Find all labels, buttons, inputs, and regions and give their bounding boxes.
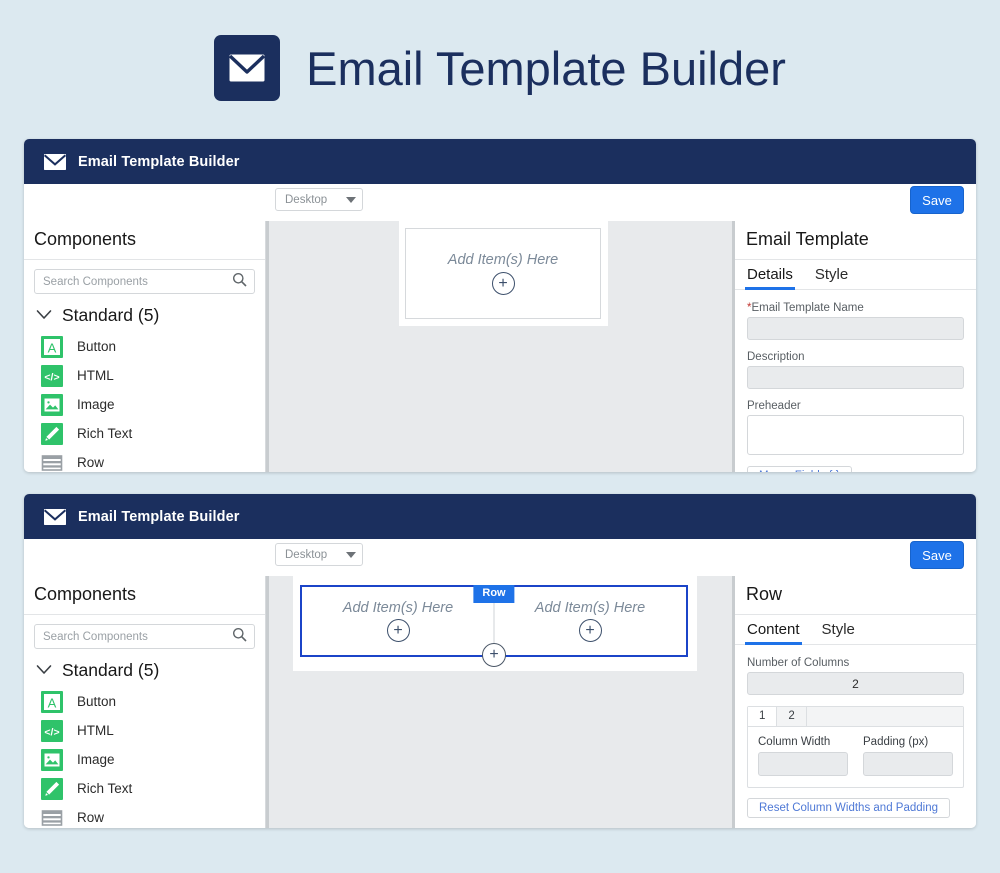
tab-content[interactable]: Content <box>747 621 800 644</box>
pencil-icon <box>41 778 63 800</box>
column-settings-card: 1 2 Column Width Padding (px) <box>747 706 964 788</box>
components-panel: Components Search Components <box>24 576 266 828</box>
device-preview-value: Desktop <box>285 549 327 561</box>
search-components-input[interactable]: Search Components <box>34 269 255 294</box>
svg-text:A: A <box>48 340 57 355</box>
search-wrap: Search Components <box>24 615 265 653</box>
component-item-button[interactable]: A Button <box>24 687 265 716</box>
properties-panel-title: Email Template <box>735 221 976 260</box>
properties-body: *Email Template Name Description Prehead… <box>735 290 976 472</box>
component-item-button[interactable]: A Button <box>24 332 265 361</box>
column-width-field: Column Width <box>758 736 848 776</box>
search-placeholder: Search Components <box>43 276 148 288</box>
properties-panel: Email Template Details Style *Email Temp… <box>735 221 976 472</box>
component-item-image[interactable]: Image <box>24 745 265 774</box>
search-placeholder: Search Components <box>43 631 148 643</box>
properties-body: Number of Columns 2 1 2 Column Width Pad… <box>735 645 976 818</box>
column-tabs: 1 2 <box>748 707 963 727</box>
row-block-selected[interactable]: Row Add Item(s) Here + Add Item(s) Here … <box>300 585 688 657</box>
svg-text:A: A <box>48 695 57 710</box>
email-canvas[interactable]: Add Item(s) Here + <box>266 221 735 472</box>
properties-panel: Row Content Style Number of Columns 2 1 … <box>735 576 976 828</box>
search-icon <box>232 272 247 292</box>
preheader-label: Preheader <box>747 400 964 412</box>
column-padding-field: Padding (px) <box>863 736 953 776</box>
properties-tabs: Details Style <box>735 260 976 290</box>
column-width-label: Column Width <box>758 736 848 748</box>
number-of-columns-label: Number of Columns <box>747 657 964 669</box>
column-padding-input[interactable] <box>863 752 953 776</box>
add-row-below-plus-circle-icon[interactable]: + <box>482 643 506 667</box>
plus-circle-icon[interactable]: + <box>579 619 602 642</box>
app-window-1: Email Template Builder Desktop Save Comp… <box>24 139 976 472</box>
components-panel-title: Components <box>24 221 265 260</box>
component-item-html[interactable]: </> HTML <box>24 716 265 745</box>
app-header: Email Template Builder <box>24 139 976 184</box>
plus-circle-icon[interactable]: + <box>387 619 410 642</box>
code-brackets-icon: </> <box>41 365 63 387</box>
components-list: A Button </> HTML <box>24 330 265 472</box>
column-tab-2[interactable]: 2 <box>777 707 806 726</box>
email-template-name-input[interactable] <box>747 317 964 340</box>
canvas-dropzone[interactable]: Add Item(s) Here + <box>405 228 601 319</box>
rows-stack-icon <box>41 807 63 829</box>
component-item-rich-text[interactable]: Rich Text <box>24 419 265 448</box>
components-group-label: Standard (5) <box>62 660 159 681</box>
column-fields: Column Width Padding (px) <box>748 727 963 787</box>
chevron-down-icon <box>36 307 52 325</box>
components-panel: Components Search Components <box>24 221 266 472</box>
envelope-icon <box>214 35 280 101</box>
page-title-bar: Email Template Builder <box>0 0 1000 136</box>
save-button[interactable]: Save <box>910 186 964 214</box>
app-body: Components Search Components <box>24 221 976 472</box>
component-item-rich-text[interactable]: Rich Text <box>24 774 265 803</box>
row-badge[interactable]: Row <box>473 585 514 603</box>
canvas-sheet: Row Add Item(s) Here + Add Item(s) Here … <box>293 576 697 671</box>
components-group-standard[interactable]: Standard (5) <box>24 653 265 685</box>
button-letter-a-icon: A <box>41 336 63 358</box>
components-panel-title: Components <box>24 576 265 615</box>
page-title: Email Template Builder <box>306 41 786 96</box>
component-label: Row <box>77 810 104 825</box>
svg-text:</>: </> <box>44 726 59 738</box>
chevron-down-icon <box>36 662 52 680</box>
components-group-label: Standard (5) <box>62 305 159 326</box>
dropzone-label: Add Item(s) Here <box>343 600 453 616</box>
properties-panel-title: Row <box>735 576 976 615</box>
component-label: HTML <box>77 723 114 738</box>
component-label: Rich Text <box>77 426 132 441</box>
search-components-input[interactable]: Search Components <box>34 624 255 649</box>
column-width-input[interactable] <box>758 752 848 776</box>
tab-details[interactable]: Details <box>747 266 793 289</box>
reset-column-widths-button[interactable]: Reset Column Widths and Padding <box>747 798 950 818</box>
component-label: Image <box>77 397 115 412</box>
component-item-html[interactable]: </> HTML <box>24 361 265 390</box>
device-preview-value: Desktop <box>285 194 327 206</box>
device-preview-select[interactable]: Desktop <box>275 543 363 566</box>
row-column-2[interactable]: Add Item(s) Here + <box>494 587 686 655</box>
app-header-title: Email Template Builder <box>78 509 239 525</box>
app-header-title: Email Template Builder <box>78 154 239 170</box>
component-label: Rich Text <box>77 781 132 796</box>
merge-fields-button[interactable]: Merge Fields { } <box>747 466 852 472</box>
component-item-image[interactable]: Image <box>24 390 265 419</box>
tab-style[interactable]: Style <box>815 266 848 289</box>
email-template-name-label: *Email Template Name <box>747 302 964 314</box>
pencil-icon <box>41 423 63 445</box>
row-column-1[interactable]: Add Item(s) Here + <box>302 587 494 655</box>
dropzone-label: Add Item(s) Here <box>448 252 558 268</box>
app-header: Email Template Builder <box>24 494 976 539</box>
column-tab-1[interactable]: 1 <box>748 707 777 726</box>
button-letter-a-icon: A <box>41 691 63 713</box>
components-list: A Button </> HTML <box>24 685 265 828</box>
device-preview-select[interactable]: Desktop <box>275 188 363 211</box>
component-item-row[interactable]: Row <box>24 803 265 828</box>
description-input[interactable] <box>747 366 964 389</box>
chevron-down-icon <box>346 552 356 558</box>
field-label-text: Email Template Name <box>751 302 863 314</box>
envelope-icon <box>42 507 68 527</box>
email-canvas[interactable]: Row Add Item(s) Here + Add Item(s) Here … <box>266 576 735 828</box>
chevron-down-icon <box>346 197 356 203</box>
number-of-columns-select[interactable]: 2 <box>747 672 964 695</box>
dropzone-label: Add Item(s) Here <box>535 600 645 616</box>
component-label: Button <box>77 694 116 709</box>
description-label: Description <box>747 351 964 363</box>
search-wrap: Search Components <box>24 260 265 298</box>
component-label: Button <box>77 339 116 354</box>
preheader-input[interactable] <box>747 415 964 455</box>
app-body: Components Search Components <box>24 576 976 828</box>
save-button[interactable]: Save <box>910 541 964 569</box>
properties-tabs: Content Style <box>735 615 976 645</box>
tab-style[interactable]: Style <box>822 621 855 644</box>
component-label: Row <box>77 455 104 470</box>
app-toolbar: Desktop Save <box>24 539 976 576</box>
component-label: HTML <box>77 368 114 383</box>
image-picture-icon <box>41 749 63 771</box>
canvas-sheet: Add Item(s) Here + <box>399 221 608 326</box>
search-icon <box>232 627 247 647</box>
column-padding-label: Padding (px) <box>863 736 953 748</box>
component-item-row[interactable]: Row <box>24 448 265 472</box>
components-group-standard[interactable]: Standard (5) <box>24 298 265 330</box>
svg-text:</>: </> <box>44 371 59 383</box>
image-picture-icon <box>41 394 63 416</box>
rows-stack-icon <box>41 452 63 473</box>
app-window-2: Email Template Builder Desktop Save Comp… <box>24 494 976 828</box>
plus-circle-icon[interactable]: + <box>492 272 515 295</box>
code-brackets-icon: </> <box>41 720 63 742</box>
app-toolbar: Desktop Save <box>24 184 976 221</box>
envelope-icon <box>42 152 68 172</box>
component-label: Image <box>77 752 115 767</box>
